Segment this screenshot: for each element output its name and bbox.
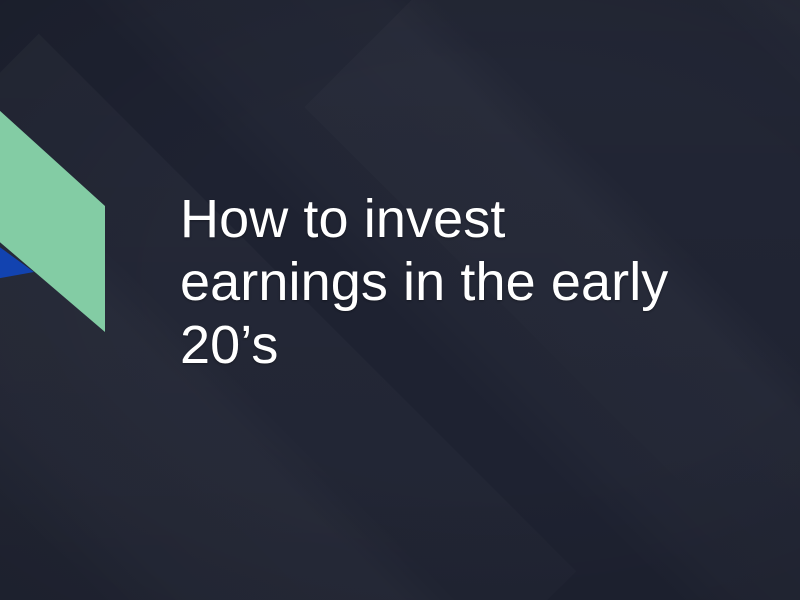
title-line-2: earnings in the early: [180, 251, 760, 314]
title-line-1: How to invest: [180, 188, 760, 251]
presentation-slide: How to invest earnings in the early 20’s: [0, 0, 800, 600]
page-title: How to invest earnings in the early 20’s: [180, 188, 760, 377]
title-line-3: 20’s: [180, 314, 760, 377]
